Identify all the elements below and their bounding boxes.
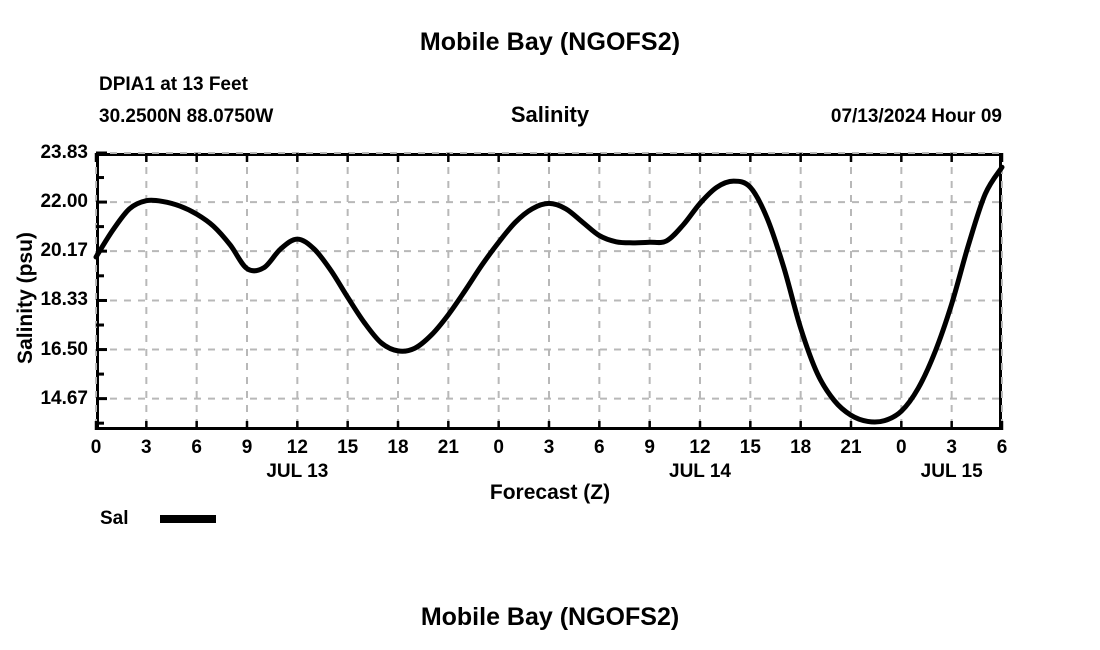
x-tick-label: 6: [997, 437, 1008, 459]
x-tick-label: 21: [840, 437, 861, 459]
x-tick-label: 6: [594, 437, 605, 459]
x-axis-day-label: JUL 14: [669, 461, 731, 483]
salinity-series-line: [96, 153, 1002, 430]
x-axis-day-label: JUL 13: [266, 461, 328, 483]
x-tick-label: 0: [493, 437, 504, 459]
y-tick-label: 18.33: [40, 289, 88, 311]
x-tick-label: 12: [689, 437, 710, 459]
y-tick-label: 16.50: [40, 339, 88, 361]
y-tick-label: 23.83: [40, 142, 88, 164]
y-axis-label: Salinity (psu): [14, 218, 38, 378]
y-tick-label: 22.00: [40, 191, 88, 213]
x-tick-label: 3: [544, 437, 555, 459]
x-tick-label: 3: [141, 437, 152, 459]
x-tick-label: 18: [790, 437, 811, 459]
x-tick-label: 18: [387, 437, 408, 459]
x-tick-label: 15: [337, 437, 358, 459]
legend-line-swatch: [160, 515, 216, 523]
x-tick-label: 12: [287, 437, 308, 459]
x-tick-label: 3: [946, 437, 957, 459]
page-title-top: Mobile Bay (NGOFS2): [0, 28, 1100, 57]
page-title-bottom: Mobile Bay (NGOFS2): [0, 603, 1100, 632]
x-tick-label: 6: [191, 437, 202, 459]
x-tick-label: 15: [740, 437, 761, 459]
x-tick-label: 9: [644, 437, 655, 459]
x-axis-day-label: JUL 15: [921, 461, 983, 483]
chart-page: Mobile Bay (NGOFS2) DPIA1 at 13 Feet 30.…: [0, 0, 1100, 650]
legend-label-sal: Sal: [100, 508, 129, 530]
plot-area: [96, 153, 1002, 430]
station-depth-label: DPIA1 at 13 Feet: [99, 74, 248, 96]
y-tick-label: 14.67: [40, 388, 88, 410]
x-tick-label: 0: [896, 437, 907, 459]
legend: Sal: [100, 508, 216, 530]
x-tick-label: 9: [242, 437, 253, 459]
y-tick-label: 20.17: [40, 240, 88, 262]
model-run-timestamp: 07/13/2024 Hour 09: [831, 106, 1002, 128]
x-tick-label: 0: [91, 437, 102, 459]
x-tick-label: 21: [438, 437, 459, 459]
x-axis-label: Forecast (Z): [0, 481, 1100, 505]
